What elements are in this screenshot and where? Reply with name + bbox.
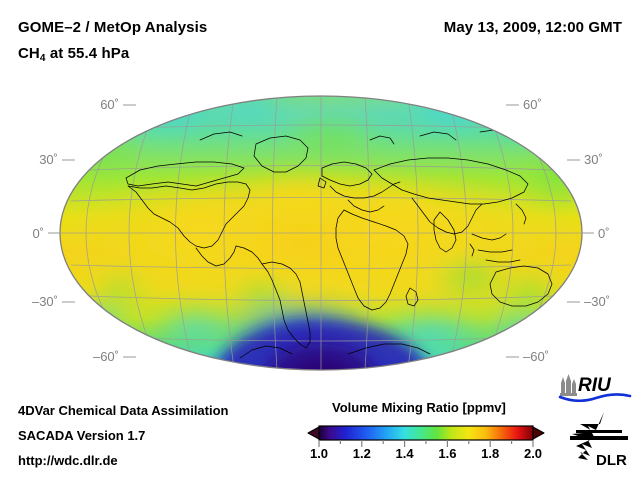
colorbar-tick-3: 1.4 xyxy=(396,446,414,461)
figure-canvas: GOME–2 / MetOp Analysis CH4 at 55.4 hPa … xyxy=(0,0,640,480)
mollweide-map-svg: 60˚ 60˚ 30˚ 30˚ 0˚ 0˚ –30˚ –30˚ –60˚ –60… xyxy=(0,82,640,382)
website-url[interactable]: http://wdc.dlr.de xyxy=(18,453,118,468)
global-map: 60˚ 60˚ 30˚ 30˚ 0˚ 0˚ –30˚ –30˚ –60˚ –60… xyxy=(0,82,640,382)
riu-logo-svg: RIU xyxy=(556,372,632,402)
dlr-logo: DLR xyxy=(566,410,634,468)
timestamp-label: May 13, 2009, 12:00 GMT xyxy=(444,19,622,36)
colorbar-tick-2: 1.2 xyxy=(353,446,371,461)
lat-label-60s-left: –60˚ xyxy=(93,349,119,364)
colorbar-tick-5: 1.8 xyxy=(481,446,499,461)
riu-logo: RIU xyxy=(556,372,632,402)
lat-label-60n-left: 60˚ xyxy=(100,97,119,112)
lat-label-60s-right: –60˚ xyxy=(523,349,549,364)
lat-label-30s-right: –30˚ xyxy=(584,294,610,309)
cathedral-towers-icon xyxy=(560,374,577,396)
colorbar-tick-labels: 1.0 1.2 1.4 1.6 1.8 2.0 xyxy=(306,446,546,464)
lat-label-30s-left: –30˚ xyxy=(32,294,58,309)
colorbar-extend-high xyxy=(533,427,544,439)
dlr-logo-text: DLR xyxy=(596,452,627,468)
lat-label-60n-right: 60˚ xyxy=(523,97,542,112)
version-label: SACADA Version 1.7 xyxy=(18,428,145,443)
colorbar-tick-4: 1.6 xyxy=(438,446,456,461)
lat-label-0-right: 0˚ xyxy=(598,226,610,241)
page-title: GOME–2 / MetOp Analysis xyxy=(18,19,207,36)
lat-label-30n-left: 30˚ xyxy=(39,152,58,167)
colorbar-tick-6: 2.0 xyxy=(524,446,542,461)
species-title: CH4 at 55.4 hPa xyxy=(18,45,129,64)
dlr-logo-svg: DLR xyxy=(566,410,634,468)
species-formula-prefix: CH xyxy=(18,45,40,62)
lat-label-0-left: 0˚ xyxy=(32,226,44,241)
colorbar-extend-low xyxy=(308,427,319,439)
riu-logo-text: RIU xyxy=(578,375,612,396)
species-pressure-level: at 55.4 hPa xyxy=(46,45,130,62)
method-label: 4DVar Chemical Data Assimilation xyxy=(18,403,229,418)
colorbar-gradient xyxy=(319,426,533,440)
colorbar-tick-1: 1.0 xyxy=(310,446,328,461)
lat-label-30n-right: 30˚ xyxy=(584,152,603,167)
colorbar-title: Volume Mixing Ratio [ppmv] xyxy=(332,400,506,415)
